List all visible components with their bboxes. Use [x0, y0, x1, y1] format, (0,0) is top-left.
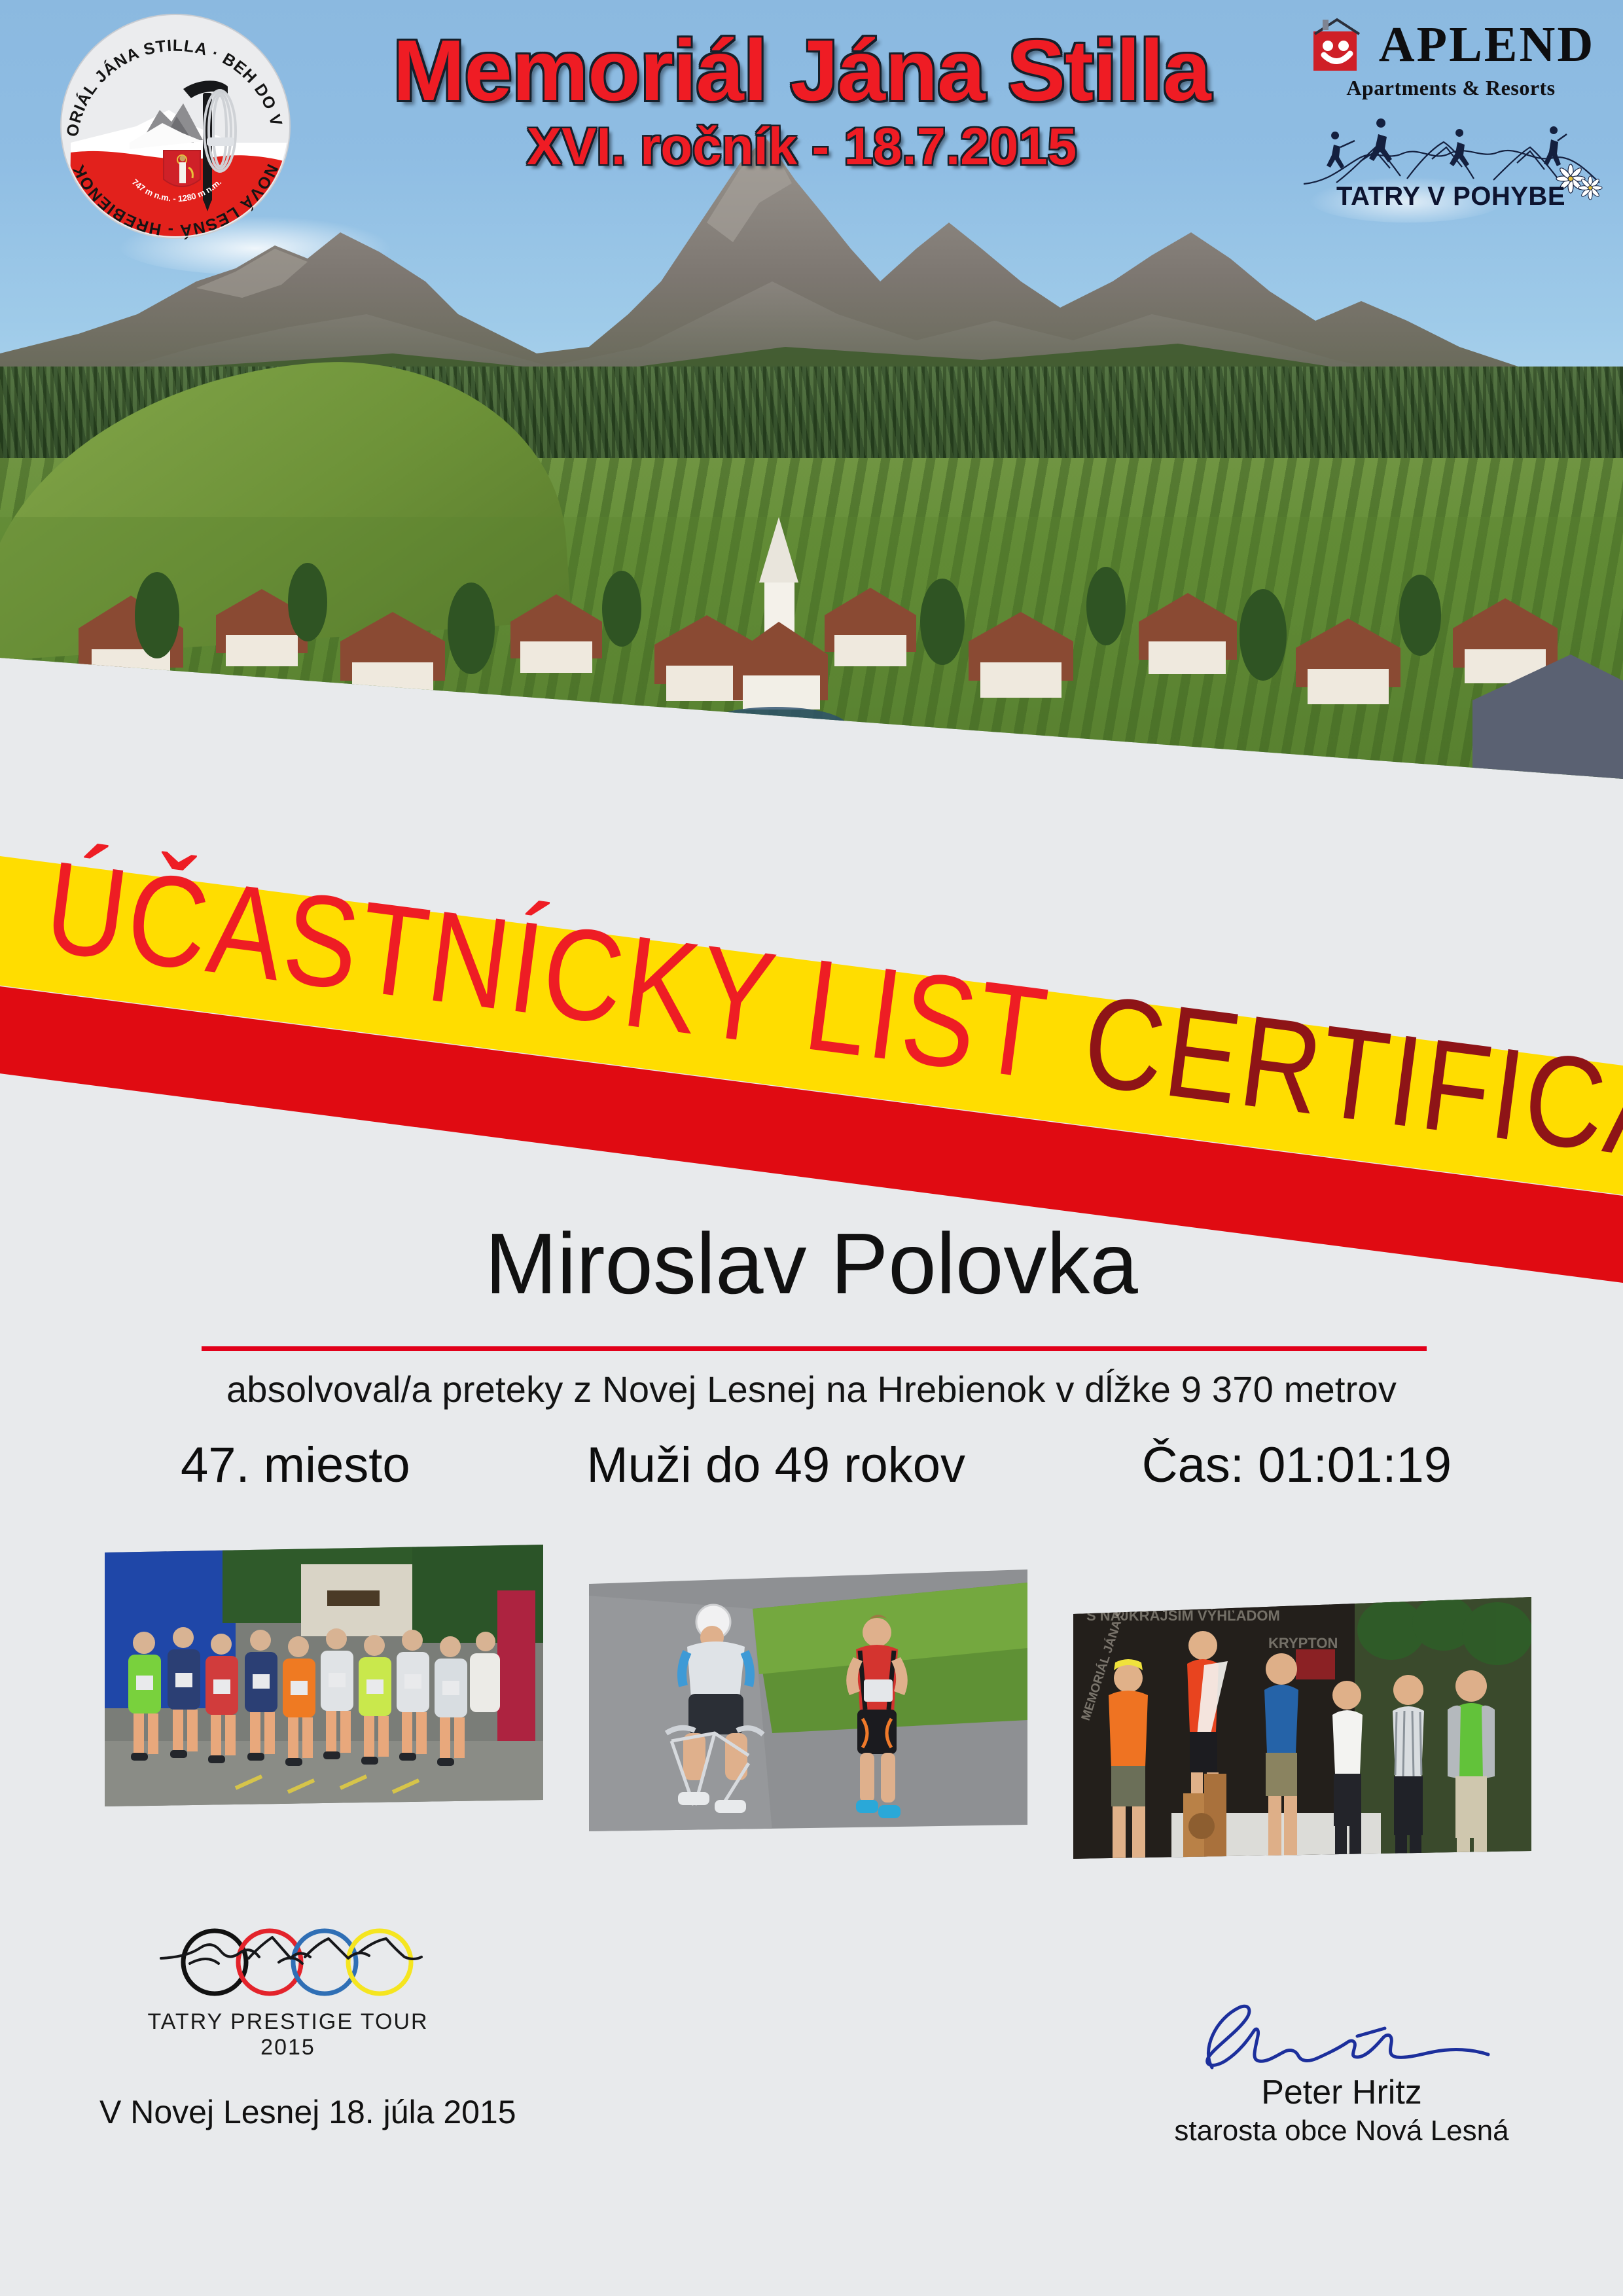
result-time: Čas: 01:01:19	[1142, 1437, 1452, 1494]
certificate-page: MEMORIÁL JÁNA STILLA · BEH DO VRCHU NOVÁ…	[0, 0, 1623, 2296]
tatry-v-pohybe-logo: TATRY V POHYBE	[1297, 111, 1605, 209]
event-title-block: Memoriál Jána Stilla XVI. ročník - 18.7.…	[366, 27, 1237, 173]
village-rooftops	[0, 419, 1623, 779]
result-category: Muži do 49 rokov	[586, 1437, 965, 1494]
photo-award-ceremony: S NAJKRAJŠÍM VÝHĽADOM KRYPTON MEMORIÁL J…	[1073, 1597, 1531, 1859]
recipient-name: Miroslav Polovka	[0, 1214, 1623, 1313]
olympic-rings-icon	[151, 1924, 425, 2003]
aplend-logo: APLEND	[1297, 14, 1605, 75]
signatory-role: starosta obce Nová Lesná	[1139, 2115, 1544, 2147]
signature-block: Peter Hritz starosta obce Nová Lesná	[1139, 2000, 1544, 2147]
svg-text:KRYPTON: KRYPTON	[1268, 1635, 1338, 1651]
tatry-v-pohybe-wordmark: TATRY V POHYBE	[1297, 182, 1605, 211]
event-title: Memoriál Jána Stilla	[366, 27, 1237, 114]
certificate-description: absolvoval/a preteky z Novej Lesnej na H…	[0, 1368, 1623, 1410]
photo-race-start	[105, 1545, 543, 1806]
tatry-prestige-tour-label: TATRY PRESTIGE TOUR 2015	[131, 2009, 445, 2060]
recipient-divider	[202, 1346, 1427, 1351]
result-place: 47. miesto	[181, 1437, 410, 1494]
aplend-wordmark: APLEND	[1379, 20, 1595, 69]
signatory-name: Peter Hritz	[1139, 2073, 1544, 2112]
house-smiley-icon	[1307, 14, 1367, 75]
tatry-prestige-tour-logo: TATRY PRESTIGE TOUR 2015	[131, 1924, 445, 2060]
event-badge-logo: MEMORIÁL JÁNA STILLA · BEH DO VRCHU NOVÁ…	[31, 12, 319, 241]
photo-cyclist-and-runner	[589, 1570, 1027, 1831]
hero-panorama-photo: MEMORIÁL JÁNA STILLA · BEH DO VRCHU NOVÁ…	[0, 0, 1623, 779]
signature-icon	[1171, 2000, 1512, 2077]
aplend-tagline: Apartments & Resorts	[1297, 76, 1605, 100]
place-and-date: V Novej Lesnej 18. júla 2015	[99, 2093, 516, 2131]
sponsor-logos: APLEND Apartments & Resorts	[1297, 14, 1605, 209]
photo-strip: S NAJKRAJŠÍM VÝHĽADOM KRYPTON MEMORIÁL J…	[0, 1525, 1623, 1892]
event-subtitle: XVI. ročník - 18.7.2015	[366, 120, 1237, 173]
results-row: 47. miesto Muži do 49 rokov Čas: 01:01:1…	[151, 1437, 1472, 1494]
